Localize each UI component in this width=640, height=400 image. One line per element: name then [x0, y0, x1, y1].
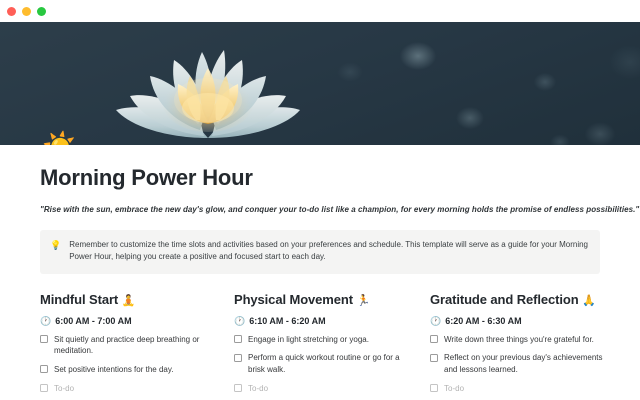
traffic-light-group	[0, 7, 46, 16]
checkbox-icon[interactable]	[234, 354, 242, 362]
checkbox-icon[interactable]	[40, 365, 48, 373]
page-quote: "Rise with the sun, embrace the new day'…	[40, 205, 640, 214]
app-window: ☀️ Morning Power Hour "Rise with the sun…	[0, 0, 640, 400]
water-lily-image	[108, 26, 308, 145]
column-heading[interactable]: Mindful Start 🧘	[40, 292, 224, 307]
todo-item[interactable]: Engage in light stretching or yoga.	[234, 334, 418, 346]
todo-placeholder-label: To-do	[248, 383, 268, 395]
todo-item[interactable]: Set positive intentions for the day.	[40, 364, 224, 376]
page-title[interactable]: Morning Power Hour	[40, 165, 640, 191]
sun-emoji: ☀️	[42, 134, 78, 145]
title-bar	[0, 0, 640, 22]
todo-item[interactable]: Sit quietly and practice deep breathing …	[40, 334, 224, 357]
todo-label: Sit quietly and practice deep breathing …	[54, 334, 224, 357]
time-slot-label: 6:00 AM - 7:00 AM	[55, 316, 131, 326]
checkbox-icon[interactable]	[234, 384, 242, 392]
column-heading-label: Gratitude and Reflection	[430, 292, 579, 307]
column-mindful-start: Mindful Start 🧘 🕐 6:00 AM - 7:00 AM Sit …	[40, 292, 236, 400]
column-physical-movement: Physical Movement 🏃 🕐 6:10 AM - 6:20 AM …	[234, 292, 430, 400]
callout-box[interactable]: 💡 Remember to customize the time slots a…	[40, 230, 600, 274]
column-heading-label: Physical Movement	[234, 292, 353, 307]
minimize-button[interactable]	[22, 7, 31, 16]
todo-label: Set positive intentions for the day.	[54, 364, 173, 376]
hero-background	[0, 22, 640, 145]
time-slot-label: 6:20 AM - 6:30 AM	[445, 316, 521, 326]
columns-container: Mindful Start 🧘 🕐 6:00 AM - 7:00 AM Sit …	[40, 292, 640, 400]
time-slot-label: 6:10 AM - 6:20 AM	[249, 316, 325, 326]
todo-item-placeholder[interactable]: To-do	[430, 383, 614, 395]
checkbox-icon[interactable]	[40, 335, 48, 343]
maximize-button[interactable]	[37, 7, 46, 16]
column-heading-label: Mindful Start	[40, 292, 118, 307]
column-gratitude-reflection: Gratitude and Reflection 🙏 🕐 6:20 AM - 6…	[430, 292, 626, 400]
todo-label: Write down three things you're grateful …	[444, 334, 594, 346]
checkbox-icon[interactable]	[234, 335, 242, 343]
column-heading[interactable]: Physical Movement 🏃	[234, 292, 418, 307]
todo-item[interactable]: Reflect on your previous day's achieveme…	[430, 352, 614, 375]
praying-hands-icon: 🙏	[582, 295, 596, 307]
checkbox-icon[interactable]	[430, 335, 438, 343]
page-content: Morning Power Hour "Rise with the sun, e…	[0, 145, 640, 400]
hero-banner[interactable]: ☀️	[0, 22, 640, 145]
checkbox-icon[interactable]	[430, 384, 438, 392]
todo-label: Reflect on your previous day's achieveme…	[444, 352, 614, 375]
column-heading[interactable]: Gratitude and Reflection 🙏	[430, 292, 614, 307]
meditation-icon: 🧘	[122, 295, 136, 307]
todo-placeholder-label: To-do	[54, 383, 74, 395]
clock-icon: 🕐	[40, 316, 51, 327]
checkbox-icon[interactable]	[430, 354, 438, 362]
lightbulb-icon: 💡	[50, 239, 61, 253]
clock-icon: 🕐	[234, 316, 245, 327]
time-slot: 🕐 6:10 AM - 6:20 AM	[234, 316, 418, 327]
time-slot: 🕐 6:20 AM - 6:30 AM	[430, 316, 614, 327]
runner-icon: 🏃	[356, 295, 370, 307]
todo-item[interactable]: Write down three things you're grateful …	[430, 334, 614, 346]
todo-placeholder-label: To-do	[444, 383, 464, 395]
callout-text: Remember to customize the time slots and…	[69, 239, 590, 264]
todo-label: Engage in light stretching or yoga.	[248, 334, 369, 346]
todo-label: Perform a quick workout routine or go fo…	[248, 352, 418, 375]
checkbox-icon[interactable]	[40, 384, 48, 392]
clock-icon: 🕐	[430, 316, 441, 327]
todo-item-placeholder[interactable]: To-do	[234, 383, 418, 395]
time-slot: 🕐 6:00 AM - 7:00 AM	[40, 316, 224, 327]
close-button[interactable]	[7, 7, 16, 16]
todo-item-placeholder[interactable]: To-do	[40, 383, 224, 395]
todo-item[interactable]: Perform a quick workout routine or go fo…	[234, 352, 418, 375]
